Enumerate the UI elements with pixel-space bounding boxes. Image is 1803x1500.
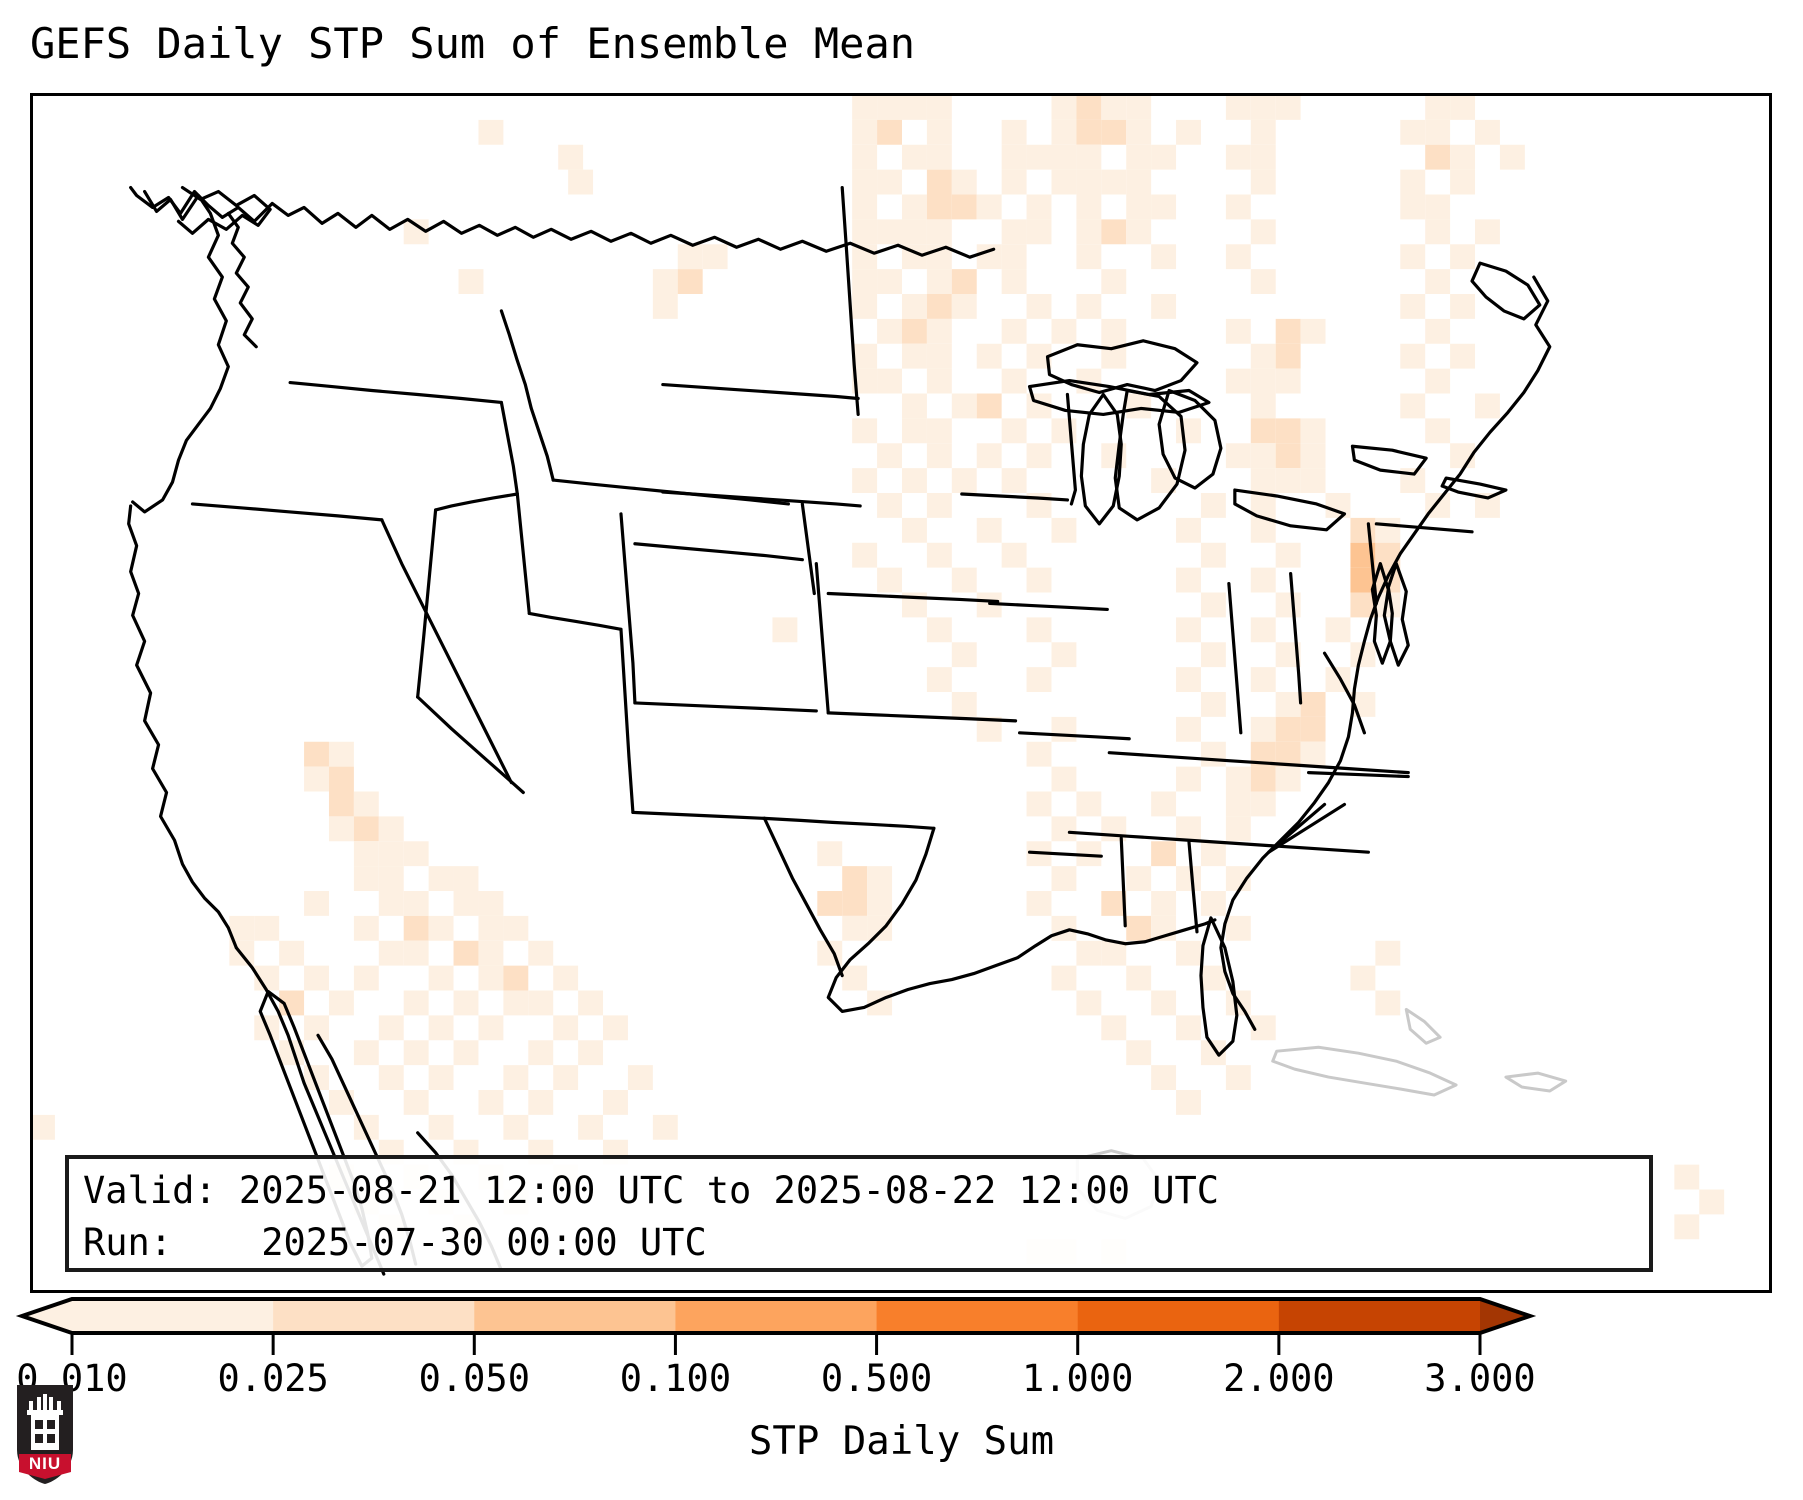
data-cell (927, 543, 952, 568)
data-cell (553, 966, 578, 991)
data-cell (429, 1115, 454, 1140)
map-canvas[interactable] (33, 96, 1769, 1290)
data-cell (578, 991, 603, 1016)
data-cell (1151, 991, 1176, 1016)
state-border-ia-mo (990, 603, 1108, 609)
data-cell (354, 866, 379, 891)
data-cell (1226, 443, 1251, 468)
data-cell (1101, 96, 1126, 120)
data-cell (927, 96, 952, 120)
data-cell (304, 767, 329, 792)
long-island (1442, 478, 1506, 498)
data-cell (429, 1015, 454, 1040)
colorbar-tick-label: 2.000 (1223, 1357, 1334, 1401)
state-border-ca-nv (382, 520, 512, 783)
data-cell (1151, 1065, 1176, 1090)
data-cell (927, 319, 952, 344)
data-cell (528, 941, 553, 966)
data-cell (817, 841, 842, 866)
colorbar-band (1279, 1299, 1481, 1333)
data-cell (1051, 145, 1076, 170)
data-cell (902, 418, 927, 443)
data-cell (429, 1065, 454, 1090)
data-cell (952, 269, 977, 294)
data-cell (1350, 966, 1375, 991)
data-cell (1326, 493, 1351, 518)
data-cell (1051, 120, 1076, 145)
us-coastline-west (129, 506, 237, 948)
data-cell (927, 269, 952, 294)
data-cell (1251, 767, 1276, 792)
data-cell (1301, 468, 1326, 493)
data-cell (1375, 991, 1400, 1016)
colorbar-ticks (72, 1333, 1480, 1355)
data-cell (1027, 792, 1052, 817)
data-cell (379, 1015, 404, 1040)
data-cell (1251, 418, 1276, 443)
colorbar-extend-max (1480, 1299, 1530, 1333)
data-cell (1226, 767, 1251, 792)
data-cell (379, 841, 404, 866)
data-cell (1002, 120, 1027, 145)
data-cell (1076, 96, 1101, 120)
data-cell (867, 866, 892, 891)
data-cell (1126, 219, 1151, 244)
data-cell (1027, 568, 1052, 593)
data-cell (927, 617, 952, 642)
run-time-line: Run: 2025-07-30 00:00 UTC (83, 1217, 1635, 1269)
data-cell (1027, 617, 1052, 642)
data-cell (1076, 170, 1101, 195)
data-cell (852, 468, 877, 493)
data-cell (1101, 120, 1126, 145)
data-cell (1201, 742, 1226, 767)
state-border-mn-ia (962, 494, 1068, 500)
data-cell (952, 195, 977, 220)
data-cell (1425, 120, 1450, 145)
data-cell (33, 1115, 55, 1140)
data-cell (503, 966, 528, 991)
data-cell (1226, 792, 1251, 817)
data-cell (1126, 170, 1151, 195)
data-cell (1450, 96, 1475, 120)
data-cell (1151, 294, 1176, 319)
data-cell (852, 120, 877, 145)
info-box: Valid: 2025-08-21 12:00 UTC to 2025-08-2… (65, 1155, 1653, 1272)
data-cell (279, 941, 304, 966)
state-border-nm-co (635, 703, 816, 711)
data-cell (503, 991, 528, 1016)
data-cell (1002, 543, 1027, 568)
data-cell (852, 269, 877, 294)
data-cell (1002, 219, 1027, 244)
data-cell (478, 941, 503, 966)
state-border-wa-or (290, 383, 501, 403)
data-cell (1126, 916, 1151, 941)
state-border-ok-tx (764, 818, 933, 828)
data-cell (503, 1115, 528, 1140)
data-cell (1201, 493, 1226, 518)
data-cell (1400, 195, 1425, 220)
data-cell (927, 344, 952, 369)
data-cell (1400, 244, 1425, 269)
data-cell (1051, 518, 1076, 543)
data-cell (1301, 319, 1326, 344)
data-cell (459, 269, 484, 294)
data-cell (1276, 369, 1301, 394)
data-cell (1251, 394, 1276, 419)
data-cell (877, 369, 902, 394)
data-cell (952, 468, 977, 493)
data-cell (1251, 468, 1276, 493)
bahamas-outline (1406, 1009, 1440, 1043)
data-cell (1276, 319, 1301, 344)
data-cell (1051, 319, 1076, 344)
data-cell (454, 941, 479, 966)
data-cell (1201, 593, 1226, 618)
data-cell (1450, 344, 1475, 369)
data-cell (877, 493, 902, 518)
colorbar-band (877, 1299, 1079, 1333)
data-cell (329, 991, 354, 1016)
data-cell (503, 916, 528, 941)
data-cell (842, 866, 867, 891)
data-cell (404, 941, 429, 966)
data-cell (842, 891, 867, 916)
data-cell (528, 1090, 553, 1115)
data-cell (952, 642, 977, 667)
data-cell (1076, 195, 1101, 220)
colorbar-axis-label: STP Daily Sum (0, 1418, 1803, 1466)
data-cell (1002, 145, 1027, 170)
data-cell (927, 145, 952, 170)
data-cell (1450, 244, 1475, 269)
data-cell (628, 1065, 653, 1090)
data-cell (1326, 617, 1351, 642)
data-cell (1226, 916, 1251, 941)
data-cell (603, 1015, 628, 1040)
data-cell (1674, 1165, 1699, 1190)
logo-wordmark: NIU (29, 1454, 61, 1473)
page-title: GEFS Daily STP Sum of Ensemble Mean (30, 18, 915, 70)
data-cell (1375, 518, 1400, 543)
data-cell (1151, 195, 1176, 220)
data-cell (1051, 866, 1076, 891)
colorbar-tick-label: 0.050 (419, 1357, 530, 1401)
data-cell (1201, 543, 1226, 568)
data-cell (404, 891, 429, 916)
data-cell (1176, 941, 1201, 966)
colorbar-band (72, 1299, 274, 1333)
data-cell (354, 966, 379, 991)
data-cell (877, 443, 902, 468)
data-cell (558, 145, 583, 170)
data-cell (877, 170, 902, 195)
data-cell (354, 916, 379, 941)
data-grid-layer (33, 96, 1724, 1264)
data-cell (1699, 1190, 1724, 1215)
data-cell (304, 891, 329, 916)
data-cell (454, 991, 479, 1016)
data-cell (329, 1090, 354, 1115)
state-border-id-ut (517, 494, 529, 613)
data-cell (1301, 418, 1326, 443)
data-cell (1226, 145, 1251, 170)
state-border-ut-az (529, 613, 621, 629)
colorbar-tick-label: 0.500 (821, 1357, 932, 1401)
data-cell (354, 792, 379, 817)
data-cell (354, 816, 379, 841)
data-cell (927, 120, 952, 145)
data-cell (478, 1090, 503, 1115)
data-cell (1201, 891, 1226, 916)
data-cell (1101, 219, 1126, 244)
data-cell (1226, 96, 1251, 120)
data-cell (952, 692, 977, 717)
colorbar-tick-label: 0.025 (217, 1357, 328, 1401)
state-border-nd-sd (663, 385, 858, 399)
data-cell (1226, 369, 1251, 394)
state-border-nm-tx (633, 812, 765, 818)
data-cell (877, 96, 902, 120)
data-cell (902, 518, 927, 543)
data-cell (1101, 269, 1126, 294)
data-cell (1475, 120, 1500, 145)
data-cell (902, 294, 927, 319)
data-cell (1251, 667, 1276, 692)
data-cell (404, 991, 429, 1016)
vancouver-island (178, 188, 270, 234)
data-cell (1425, 195, 1450, 220)
data-cell (379, 941, 404, 966)
data-cell (1251, 170, 1276, 195)
data-cell (1276, 543, 1301, 568)
data-cell (1425, 219, 1450, 244)
data-cell (902, 319, 927, 344)
data-cell (1251, 344, 1276, 369)
data-cell (852, 219, 877, 244)
data-cell (1201, 642, 1226, 667)
data-cell (1475, 219, 1500, 244)
data-cell (454, 1040, 479, 1065)
data-cell (1251, 120, 1276, 145)
colorbar-bands (22, 1299, 1530, 1333)
data-cell (379, 816, 404, 841)
data-cell (902, 195, 927, 220)
data-cell (1276, 692, 1301, 717)
data-cell (952, 568, 977, 593)
data-cell (1276, 443, 1301, 468)
data-cell (977, 344, 1002, 369)
pacific-northwest-coast (133, 192, 229, 512)
data-cell (852, 294, 877, 319)
data-cell (977, 518, 1002, 543)
data-cell (1276, 593, 1301, 618)
data-cell (1002, 319, 1027, 344)
data-cell (952, 170, 977, 195)
data-cell (1126, 96, 1151, 120)
data-cell (1027, 667, 1052, 692)
data-cell (1101, 170, 1126, 195)
data-cell (1450, 145, 1475, 170)
puget-sound-detail (228, 213, 256, 346)
data-cell (1076, 145, 1101, 170)
data-cell (568, 170, 593, 195)
data-cell (1176, 518, 1201, 543)
data-cell (927, 443, 952, 468)
data-cell (429, 866, 454, 891)
data-cell (429, 966, 454, 991)
data-cell (852, 145, 877, 170)
colorbar-tick-label: 0.100 (620, 1357, 731, 1401)
data-cell (1076, 792, 1101, 817)
data-cell (1002, 468, 1027, 493)
state-border-nv-az-south (418, 697, 524, 793)
data-cell (1400, 294, 1425, 319)
data-cell (1276, 468, 1301, 493)
data-cell (404, 1090, 429, 1115)
data-cell (1375, 941, 1400, 966)
data-cell (927, 493, 952, 518)
data-cell (1276, 344, 1301, 369)
data-cell (678, 269, 703, 294)
data-cell (1151, 891, 1176, 916)
data-cell (1251, 717, 1276, 742)
data-cell (578, 1115, 603, 1140)
data-cell (1425, 418, 1450, 443)
data-cell (1251, 792, 1276, 817)
data-cell (478, 916, 503, 941)
data-cell (927, 294, 952, 319)
data-cell (1027, 891, 1052, 916)
data-cell (1051, 642, 1076, 667)
data-cell (1126, 866, 1151, 891)
state-border-sd-ne (663, 492, 860, 506)
data-cell (1201, 841, 1226, 866)
data-cell (503, 1065, 528, 1090)
data-cell (902, 344, 927, 369)
data-cell (952, 394, 977, 419)
data-cell (1301, 692, 1326, 717)
data-cell (902, 96, 927, 120)
data-cell (1051, 767, 1076, 792)
data-cell (1176, 667, 1201, 692)
data-cell (1251, 145, 1276, 170)
map-panel[interactable]: Valid: 2025-08-21 12:00 UTC to 2025-08-2… (30, 93, 1772, 1293)
state-border-wy-sd-ne (802, 504, 814, 594)
data-cell (1201, 966, 1226, 991)
niu-logo: NIU (14, 1382, 76, 1487)
data-cell (1076, 294, 1101, 319)
data-cell (379, 866, 404, 891)
data-cell (1176, 767, 1201, 792)
data-cell (379, 891, 404, 916)
state-border-il-in (1229, 584, 1241, 733)
data-cell (852, 195, 877, 220)
data-cell (1226, 1065, 1251, 1090)
data-cell (653, 1115, 678, 1140)
data-cell (877, 568, 902, 593)
data-cell (1226, 244, 1251, 269)
colorbar-band (1078, 1299, 1280, 1333)
colorbar-band (273, 1299, 475, 1333)
data-cell (1151, 792, 1176, 817)
data-cell (304, 742, 329, 767)
data-cell (877, 269, 902, 294)
data-cell (678, 244, 703, 269)
state-border-or-ca-nv (192, 504, 381, 520)
data-cell (852, 418, 877, 443)
data-cell (977, 443, 1002, 468)
data-cell (1226, 319, 1251, 344)
data-cell (1151, 244, 1176, 269)
data-cell (1251, 369, 1276, 394)
colorbar-band (675, 1299, 877, 1333)
data-cell (653, 269, 678, 294)
state-border-wy-co (635, 544, 802, 560)
figure-root: GEFS Daily STP Sum of Ensemble Mean (0, 0, 1803, 1500)
state-border-id-mt (501, 311, 553, 480)
data-cell (1051, 170, 1076, 195)
data-cell (1002, 418, 1027, 443)
data-cell (927, 369, 952, 394)
data-cell (454, 866, 479, 891)
data-cell (653, 294, 678, 319)
data-cell (1176, 1015, 1201, 1040)
data-cell (1051, 96, 1076, 120)
valid-time-line: Valid: 2025-08-21 12:00 UTC to 2025-08-2… (83, 1165, 1635, 1217)
data-cell (1002, 244, 1027, 269)
data-cell (1425, 269, 1450, 294)
data-cell (478, 1015, 503, 1040)
data-cell (1076, 120, 1101, 145)
data-cell (454, 891, 479, 916)
data-cell (1051, 816, 1076, 841)
data-cell (1226, 195, 1251, 220)
data-cell (977, 244, 1002, 269)
colorbar-panel[interactable]: 0.0100.0250.0500.1000.5001.0002.0003.000 (0, 1285, 1803, 1500)
data-cell (1450, 294, 1475, 319)
data-cell (1002, 369, 1027, 394)
data-cell (429, 916, 454, 941)
data-cell (852, 170, 877, 195)
data-cell (1027, 742, 1052, 767)
data-cell (852, 543, 877, 568)
data-cell (1400, 344, 1425, 369)
data-cell (1051, 717, 1076, 742)
data-cell (1276, 96, 1301, 120)
data-cell (842, 966, 867, 991)
data-cell (1251, 568, 1276, 593)
data-cell (1350, 518, 1375, 543)
data-cell (478, 966, 503, 991)
data-cell (927, 667, 952, 692)
data-cell (1251, 219, 1276, 244)
data-cell (1251, 269, 1276, 294)
data-cell (254, 916, 279, 941)
data-cell (1425, 145, 1450, 170)
cuba-outline (1273, 1047, 1456, 1095)
data-cell (1251, 96, 1276, 120)
data-cell (329, 767, 354, 792)
data-cell (703, 244, 728, 269)
data-cell (1176, 1090, 1201, 1115)
data-cell (1400, 394, 1425, 419)
data-cell (1475, 394, 1500, 419)
data-cell (1176, 816, 1201, 841)
data-cell (1027, 145, 1052, 170)
data-cell (1226, 816, 1251, 841)
